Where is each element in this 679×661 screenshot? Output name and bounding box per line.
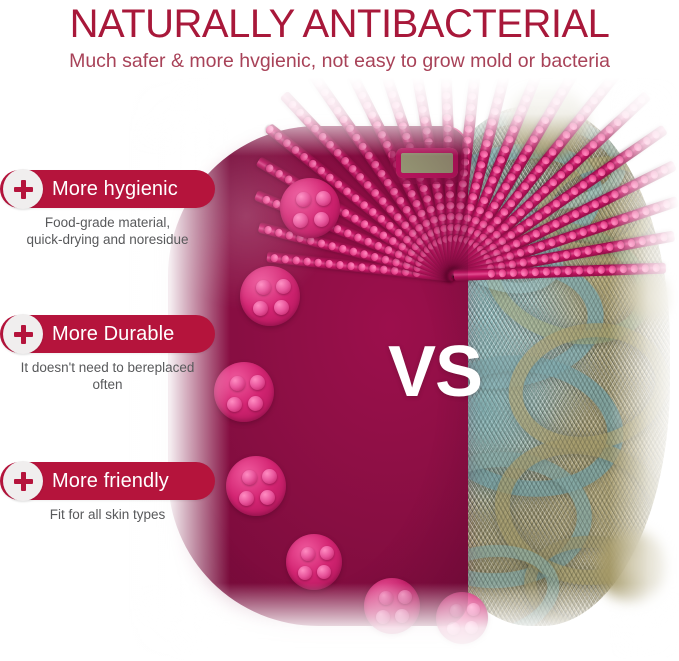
node-bump	[262, 469, 277, 484]
suction-node	[364, 578, 420, 634]
node-bump	[376, 610, 390, 624]
node-bump	[298, 566, 312, 580]
node-bump	[317, 565, 331, 579]
suction-node	[436, 592, 488, 644]
plus-icon	[3, 314, 43, 354]
node-bump	[465, 621, 478, 634]
bristle-dot	[469, 81, 477, 89]
node-bump	[248, 396, 263, 411]
bristle-dot	[467, 103, 475, 111]
bristle-dot	[465, 125, 473, 133]
node-bump	[250, 375, 265, 390]
hanging-hole	[396, 148, 458, 178]
node-bump	[314, 212, 329, 227]
bristle-dot	[442, 81, 450, 89]
node-bump	[256, 280, 271, 295]
node-bump	[239, 491, 254, 506]
node-bump	[296, 192, 311, 207]
bristle-dot	[443, 92, 451, 100]
node-bump	[260, 490, 275, 505]
bristle-dot	[446, 191, 454, 199]
bristle-dot	[270, 254, 278, 262]
node-bump	[447, 622, 460, 635]
bristle-dot	[380, 266, 388, 274]
plus-icon	[3, 461, 43, 501]
node-bump	[230, 376, 245, 391]
node-bump	[242, 470, 257, 485]
bristle-dot	[443, 103, 451, 111]
bristle-dot	[292, 256, 300, 264]
feature-caption: Food-grade material, quick-drying and no…	[0, 215, 215, 248]
bristle-dot	[325, 260, 333, 268]
feature-pill[interactable]: More hygienic	[0, 170, 215, 208]
node-bump	[467, 603, 480, 616]
feature-caption: Fit for all skin types	[0, 507, 215, 524]
suction-node	[214, 362, 274, 422]
bristle-dot	[446, 180, 454, 188]
suction-node	[240, 266, 300, 326]
node-bump	[274, 300, 289, 315]
bristle-dot	[444, 125, 452, 133]
bristle-dot	[390, 267, 398, 275]
bristle-dot	[303, 258, 311, 266]
feature-pill[interactable]: More friendly	[0, 462, 215, 500]
node-bump	[379, 591, 393, 605]
suction-node	[226, 456, 286, 516]
node-bump	[395, 609, 409, 623]
node-bump	[301, 547, 315, 561]
page-title: NATURALLY ANTIBACTERIAL	[0, 0, 679, 45]
feature-label: More hygienic	[52, 178, 178, 201]
plus-icon	[3, 169, 43, 209]
feature-item-hygienic[interactable]: More hygienic Food-grade material, quick…	[0, 170, 215, 248]
feature-caption: It doesn't need to bereplaced often	[0, 360, 215, 393]
bristle-dot	[358, 263, 366, 271]
bristle-dot	[460, 169, 468, 177]
bristle-dot	[456, 202, 464, 210]
bacteria-germ-icon	[596, 530, 668, 602]
feature-pill[interactable]: More Durable	[0, 315, 215, 353]
bristle-dot	[461, 158, 469, 166]
bristle-dot	[347, 262, 355, 270]
node-bump	[253, 301, 268, 316]
feature-label: More Durable	[52, 323, 174, 346]
bacteria-germ-icon	[628, 274, 674, 320]
bristle-dot	[336, 261, 344, 269]
bristle-dot	[459, 180, 467, 188]
bristle-dot	[463, 136, 471, 144]
bristle-dot	[314, 259, 322, 267]
bristle-dot	[369, 264, 377, 272]
feature-label: More friendly	[52, 470, 169, 493]
bristle-dot	[458, 191, 466, 199]
bristle-dot	[444, 136, 452, 144]
node-bump	[320, 546, 334, 560]
bristle-dot	[466, 114, 474, 122]
feature-item-friendly[interactable]: More friendly Fit for all skin types	[0, 462, 215, 524]
bristle-dot	[443, 114, 451, 122]
node-bump	[276, 279, 291, 294]
suction-node	[286, 534, 342, 590]
node-bump	[293, 213, 308, 228]
bristle-dot	[281, 255, 289, 263]
bristle-dot	[468, 92, 476, 100]
node-bump	[450, 604, 463, 617]
vs-label: VS	[388, 336, 482, 408]
header-banner: NATURALLY ANTIBACTERIAL Much safer & mor…	[0, 0, 679, 80]
node-bump	[316, 191, 331, 206]
bristle-dot	[447, 202, 455, 210]
page-subtitle: Much safer & more hvgienic, not easy to …	[0, 45, 679, 73]
feature-item-durable[interactable]: More Durable It doesn't need to bereplac…	[0, 315, 215, 393]
suction-node	[280, 178, 340, 238]
bristle-dot	[462, 147, 470, 155]
node-bump	[227, 397, 242, 412]
node-bump	[398, 590, 412, 604]
